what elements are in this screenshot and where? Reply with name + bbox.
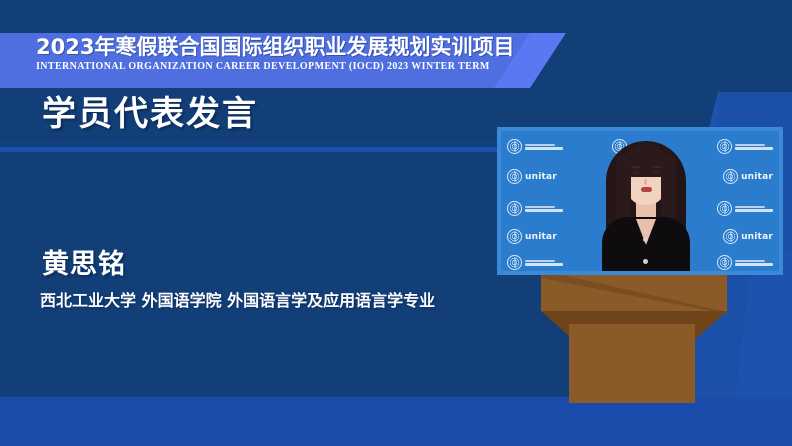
backdrop-unitar-cell: unitar [507,169,557,184]
eye-left [632,171,639,174]
backdrop-caption-chinese [525,144,563,150]
backdrop-caption-chinese [525,260,563,266]
program-title-chinese: 2023年寒假联合国国际组织职业发展规划实训项目 [36,34,516,60]
jacket-button [643,237,648,242]
podium-body [569,324,695,403]
un-emblem-icon [717,201,732,216]
jacket-button [643,259,648,264]
backdrop-unitar-cell: unitar [507,229,557,244]
backdrop-logo-cell [507,139,563,154]
backdrop-logo-cell [717,201,773,216]
unitar-wordmark: unitar [741,232,773,242]
backdrop-caption-chinese [735,206,773,212]
un-emblem-icon [507,255,522,270]
backdrop-caption-chinese [525,206,563,212]
section-heading: 学员代表发言 [42,93,258,135]
backdrop-logo-cell [717,255,773,270]
un-emblem-icon [507,229,522,244]
header-banner-text-group: 2023年寒假联合国国际组织职业发展规划实训项目 INTERNATIONAL O… [36,34,516,73]
program-title-english: INTERNATIONAL ORGANIZATION CAREER DEVELO… [36,60,516,73]
un-emblem-icon [507,139,522,154]
backdrop-logo-cell [717,139,773,154]
speaker-name: 黄思铭 [42,248,126,282]
unitar-wordmark: unitar [525,172,557,182]
lips [641,187,652,192]
backdrop-logo-cell [507,201,563,216]
nose [644,179,647,185]
eyebrow-right [652,166,661,168]
un-emblem-icon [723,169,738,184]
un-emblem-icon [717,139,732,154]
un-emblem-icon [717,255,732,270]
backdrop-unitar-cell: unitar [723,169,773,184]
podium-graphic [520,268,790,446]
eye-right [653,171,660,174]
presentation-slide: 2023年寒假联合国国际组织职业发展规划实训项目 INTERNATIONAL O… [0,0,792,446]
backdrop-caption-chinese [735,144,773,150]
backdrop-caption-chinese [735,260,773,266]
un-emblem-icon [507,169,522,184]
video-panel: unitar unitar unitar [501,131,779,271]
eyebrow-left [631,166,640,168]
speaker-video-portrait [598,137,694,271]
un-emblem-icon [723,229,738,244]
unitar-wordmark: unitar [741,172,773,182]
unitar-wordmark: unitar [525,232,557,242]
backdrop-unitar-cell: unitar [723,229,773,244]
un-emblem-icon [507,201,522,216]
backdrop-logo-cell [507,255,563,270]
speaker-affiliation: 西北工业大学 外国语学院 外国语言学及应用语言学专业 [40,290,435,312]
